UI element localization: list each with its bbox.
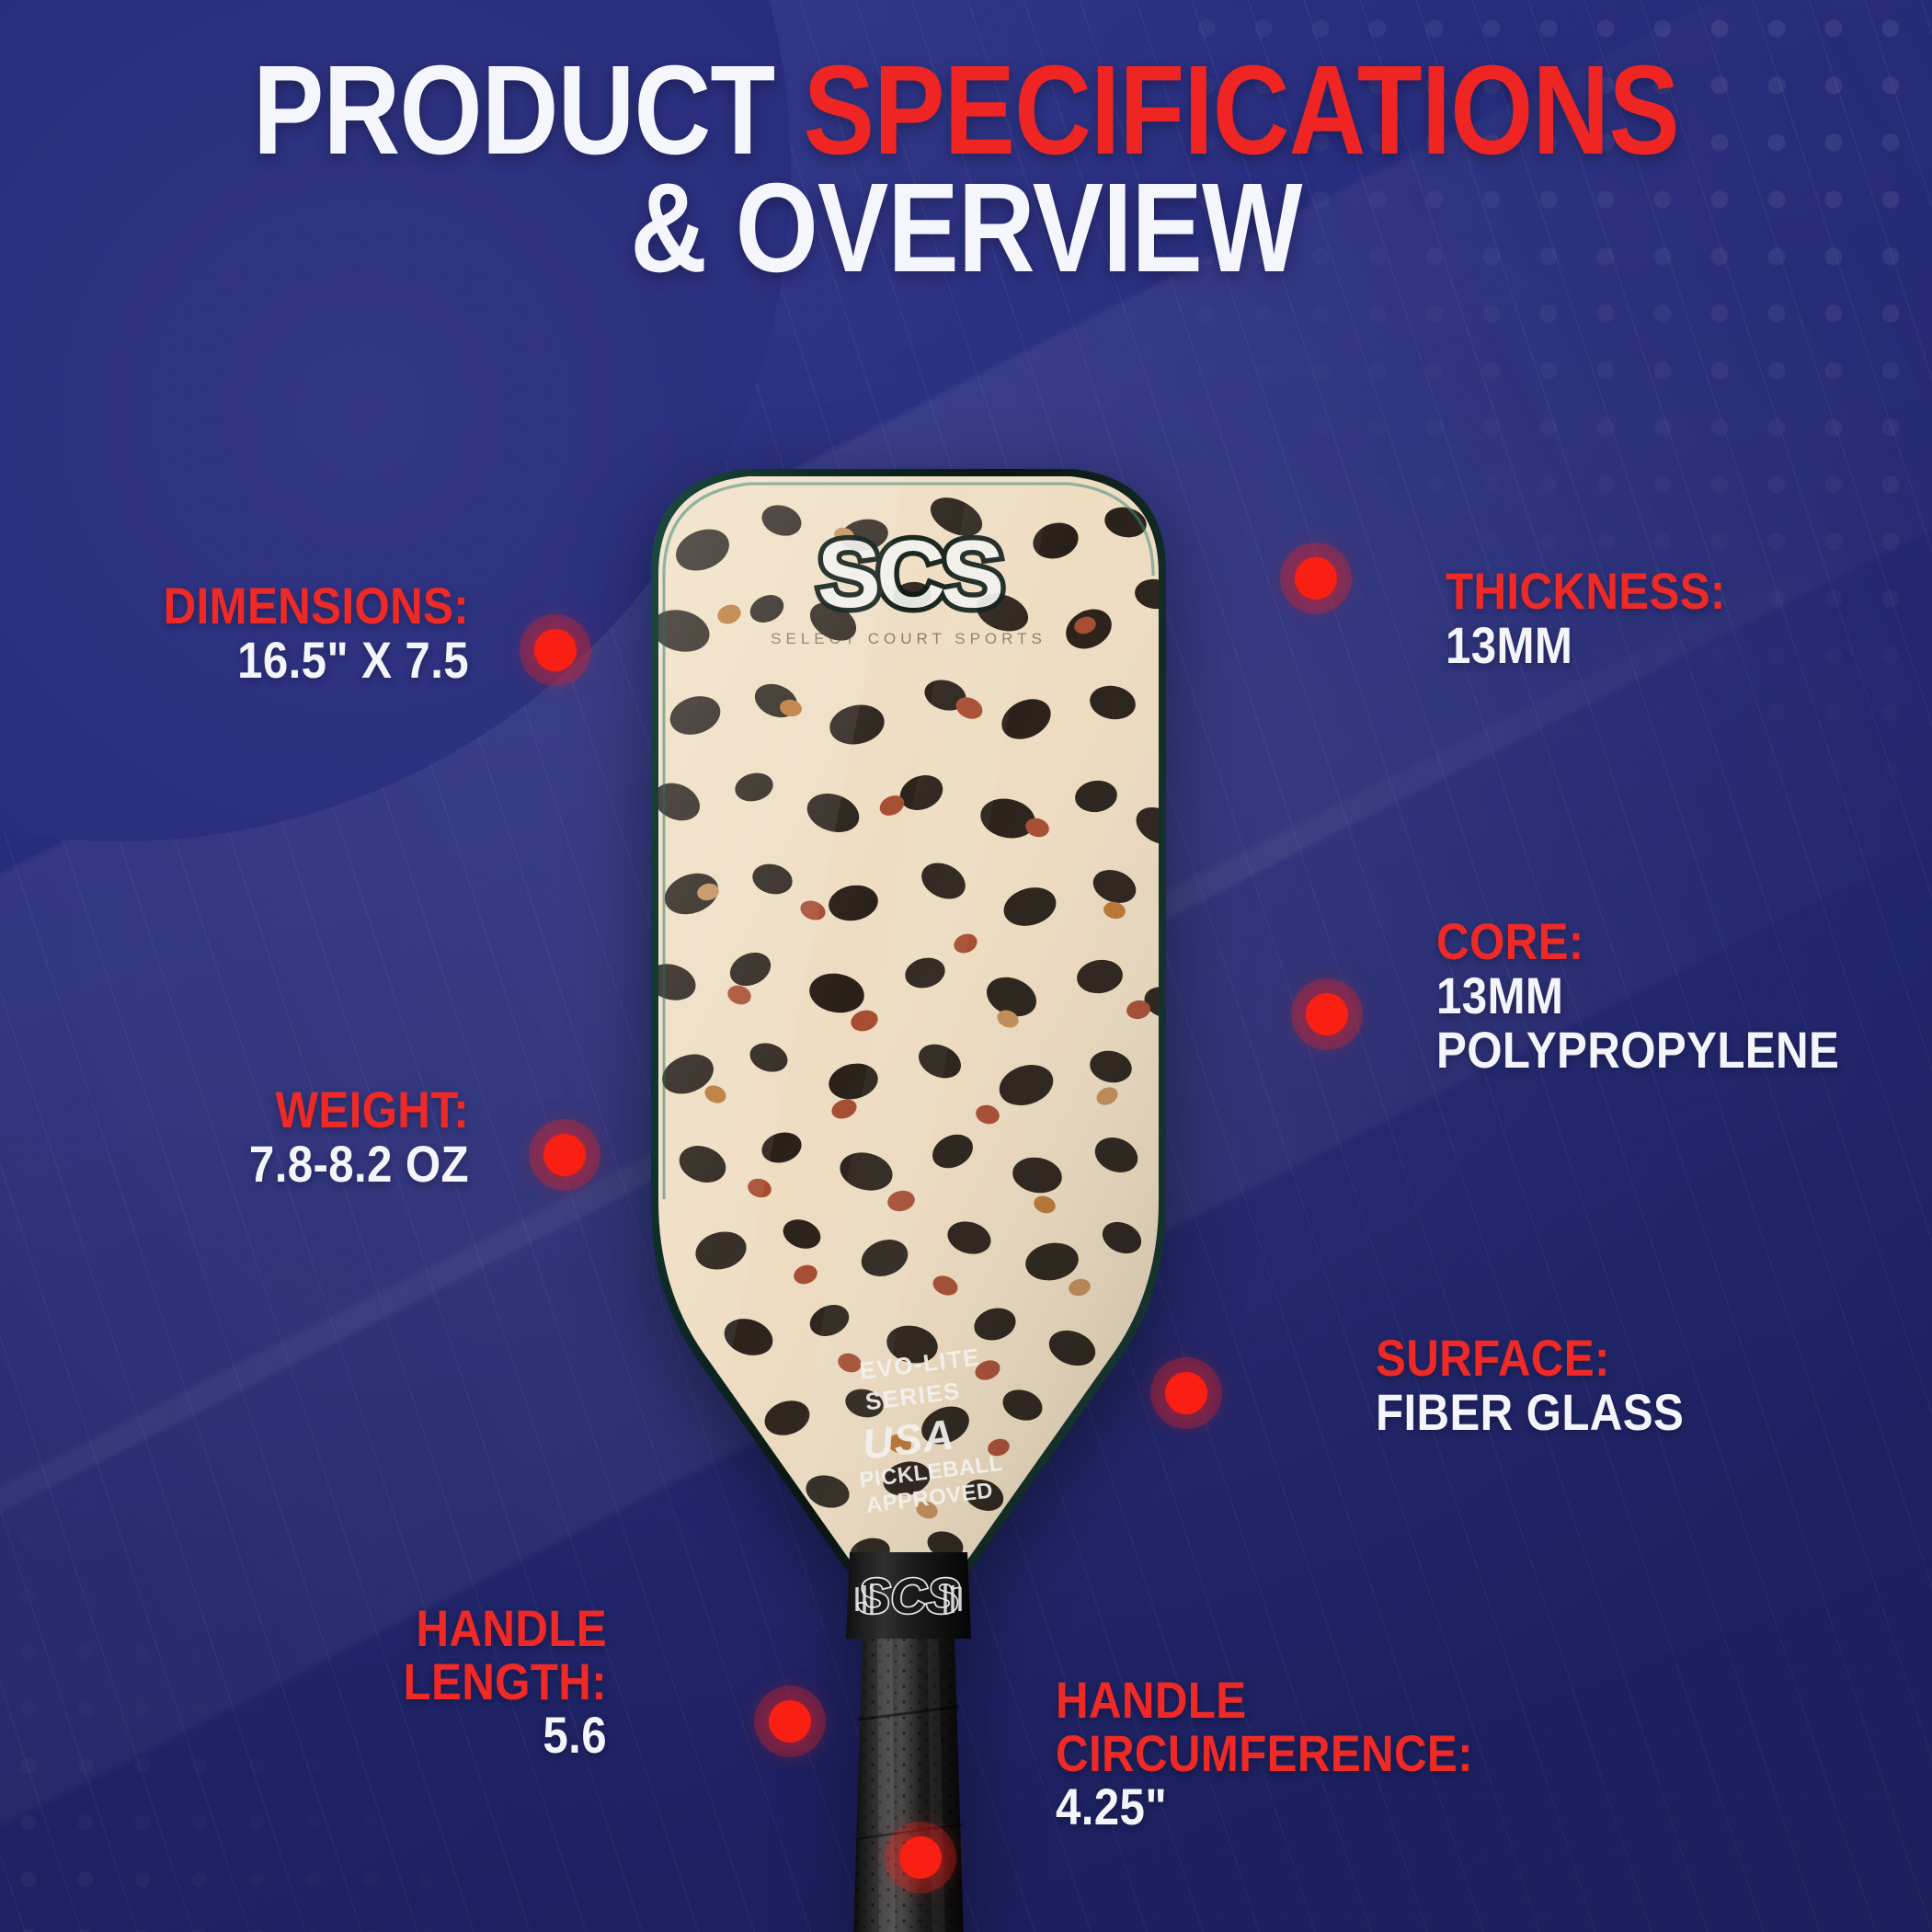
marker-dot-dimensions bbox=[534, 629, 577, 671]
page-title: PRODUCT SPECIFICATIONS & OVERVIEW bbox=[0, 51, 1932, 288]
marker-dot-handle-circumference bbox=[899, 1836, 942, 1879]
marker-dot-core bbox=[1306, 993, 1348, 1035]
spec-surface-label: SURFACE: bbox=[1376, 1332, 1780, 1385]
spec-thickness-value: 13MM bbox=[1446, 618, 1850, 672]
spec-core-label: CORE: bbox=[1436, 915, 1865, 968]
paddle-grip-band: SCS bbox=[846, 1552, 971, 1639]
spec-dimensions: DIMENSIONS: 16.5" X 7.5 bbox=[37, 579, 469, 687]
marker-dot-handle-length bbox=[769, 1700, 811, 1743]
marker-dot-weight bbox=[543, 1134, 586, 1176]
spec-core: CORE: 13MM POLYPROPYLENE bbox=[1436, 915, 1924, 1077]
spec-dimensions-value: 16.5" X 7.5 bbox=[88, 633, 469, 687]
spec-core-value-line1: 13MM bbox=[1436, 968, 1865, 1023]
spec-surface-value: FIBER GLASS bbox=[1376, 1385, 1780, 1439]
infographic-canvas: PRODUCT SPECIFICATIONS & OVERVIEW bbox=[0, 0, 1932, 1932]
spec-dimensions-label: DIMENSIONS: bbox=[88, 579, 469, 633]
spec-thickness: THICKNESS: 13MM bbox=[1446, 565, 1905, 672]
title-line-1: PRODUCT SPECIFICATIONS bbox=[154, 51, 1778, 169]
title-line-2: & OVERVIEW bbox=[154, 169, 1778, 287]
paddle-face: SCS SELECT COURT SPORTS EVO-LITE SERIES … bbox=[633, 460, 1203, 1618]
marker-dot-surface bbox=[1165, 1372, 1207, 1414]
spec-weight: WEIGHT: 7.8-8.2 OZ bbox=[55, 1083, 469, 1191]
marker-dot-thickness bbox=[1295, 557, 1337, 600]
spec-surface: SURFACE: FIBER GLASS bbox=[1376, 1332, 1835, 1439]
spec-core-value-line2: POLYPROPYLENE bbox=[1436, 1023, 1865, 1077]
pickleball-paddle-image: SCS SELECT COURT SPORTS EVO-LITE SERIES … bbox=[541, 432, 1276, 1932]
spec-weight-label: WEIGHT: bbox=[105, 1083, 469, 1137]
spec-thickness-label: THICKNESS: bbox=[1446, 565, 1850, 618]
spec-weight-value: 7.8-8.2 OZ bbox=[105, 1137, 469, 1191]
